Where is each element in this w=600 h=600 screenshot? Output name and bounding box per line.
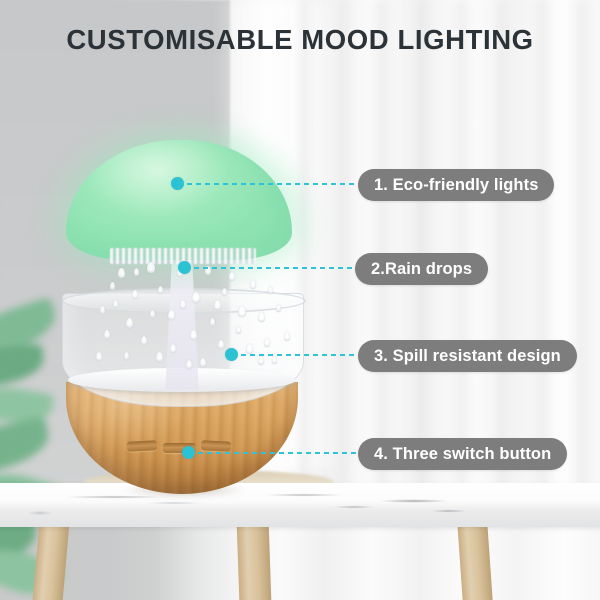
rain-drop [170, 344, 176, 353]
rain-drop [190, 330, 197, 340]
callout-endpoint-2 [178, 261, 191, 274]
rain-drop [276, 304, 281, 312]
rain-drop [236, 326, 241, 334]
callout-label-3[interactable]: 3. Spill resistant design [358, 340, 577, 372]
rain-drop [186, 360, 192, 369]
rain-drop [238, 306, 246, 317]
rain-drop [150, 310, 155, 318]
rain-drop [250, 280, 256, 289]
callout-endpoint-3 [225, 348, 238, 361]
rain-drop [200, 358, 206, 367]
rain-drop [147, 262, 155, 273]
rain-drop [124, 352, 129, 360]
rain-drop [141, 336, 147, 345]
rain-drop [180, 300, 186, 309]
rain-drop [96, 352, 102, 361]
rain-cloud-humidifier [0, 0, 600, 600]
rain-drop [268, 286, 273, 294]
product-infographic: 1. Eco-friendly lights2.Rain drops3. Spi… [0, 0, 600, 600]
callout-connector-1 [187, 183, 364, 185]
switch-button-1[interactable] [127, 440, 157, 452]
rain-drop [158, 286, 163, 294]
rain-drop [113, 300, 118, 308]
callout-endpoint-1 [171, 177, 184, 190]
callout-connector-4 [198, 452, 364, 454]
callout-connector-3 [241, 354, 364, 356]
rain-drop [210, 318, 215, 326]
rain-drop [104, 330, 110, 339]
rain-drop [246, 344, 253, 354]
rain-drop [229, 272, 235, 281]
rain-drop [264, 338, 270, 347]
page-title: CUSTOMISABLE MOOD LIGHTING [0, 24, 600, 56]
rain-drop [192, 292, 200, 303]
switch-button-3[interactable] [201, 440, 231, 452]
rain-drop [168, 310, 175, 320]
rain-drop [118, 268, 125, 278]
callout-label-4[interactable]: 4. Three switch button [358, 438, 567, 470]
callout-label-2[interactable]: 2.Rain drops [355, 253, 488, 285]
rain-drop [132, 290, 138, 299]
rain-drop [284, 332, 290, 341]
rain-drop [100, 306, 105, 314]
rain-drop [222, 288, 227, 296]
rain-drop [156, 352, 163, 362]
rain-drop [272, 356, 277, 364]
rain-drop [258, 312, 265, 322]
rain-drop [110, 282, 115, 290]
callout-label-1[interactable]: 1. Eco-friendly lights [358, 169, 554, 201]
rain-drop [218, 340, 224, 349]
rain-drop [214, 300, 221, 310]
callout-endpoint-4 [182, 446, 195, 459]
callout-connector-2 [194, 267, 361, 269]
rain-drop [126, 318, 133, 328]
rain-drop [134, 268, 139, 276]
rain-drop [258, 356, 264, 365]
